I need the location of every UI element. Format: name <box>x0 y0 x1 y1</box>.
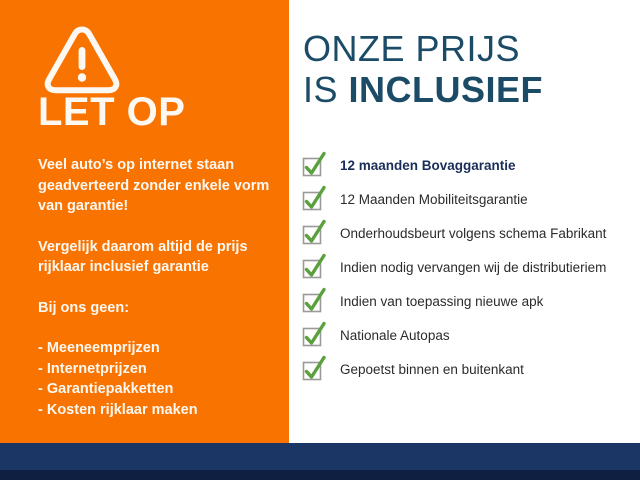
list-item: - Garantiepakketten <box>38 379 278 400</box>
checkbox-checked-icon <box>301 152 327 178</box>
warning-body-text: Veel auto’s op internet staan geadvertee… <box>38 155 278 420</box>
headline-line-2: IS INCLUSIEF <box>303 69 543 110</box>
headline-line-2-prefix: IS <box>303 69 349 110</box>
warning-triangle-icon <box>40 22 124 94</box>
warning-panel: LET OP Veel auto’s op internet staan gea… <box>0 0 289 443</box>
page-title: LET OP <box>38 92 185 132</box>
bottom-bar <box>0 443 640 470</box>
list-item: - Meeneemprijzen <box>38 338 278 359</box>
list-item-label: 12 maanden Bovaggarantie <box>340 158 516 173</box>
checkbox-checked-icon <box>301 356 327 382</box>
warning-paragraph-2: Vergelijk daarom altijd de prijs rijklaa… <box>38 237 278 278</box>
list-item-label: Indien van toepassing nieuwe apk <box>340 294 543 309</box>
checkbox-checked-icon <box>301 322 327 348</box>
headline-line-2-emphasis: INCLUSIEF <box>349 69 544 110</box>
checkbox-checked-icon <box>301 288 327 314</box>
list-item-label: Indien nodig vervangen wij de distributi… <box>340 260 606 275</box>
list-item-label: 12 Maanden Mobiliteitsgarantie <box>340 192 528 207</box>
list-item: Indien van toepassing nieuwe apk <box>297 284 640 318</box>
bottom-bar-shadow <box>0 470 640 480</box>
exclusion-list: - Meeneemprijzen - Internetprijzen - Gar… <box>38 338 278 420</box>
list-item: Onderhoudsbeurt volgens schema Fabrikant <box>297 216 640 250</box>
headline: ONZE PRIJS IS INCLUSIEF <box>303 28 543 110</box>
list-item: 12 Maanden Mobiliteitsgarantie <box>297 182 640 216</box>
inclusive-price-panel: ONZE PRIJS IS INCLUSIEF 12 maanden Bovag… <box>289 0 640 443</box>
checkbox-checked-icon <box>301 254 327 280</box>
list-item: - Internetprijzen <box>38 359 278 380</box>
headline-line-1: ONZE PRIJS <box>303 28 543 69</box>
inclusions-checklist: 12 maanden Bovaggarantie 12 Maanden Mobi… <box>297 148 640 386</box>
list-item-label: Nationale Autopas <box>340 328 450 343</box>
list-item: Nationale Autopas <box>297 318 640 352</box>
checkbox-checked-icon <box>301 220 327 246</box>
list-item-label: Gepoetst binnen en buitenkant <box>340 362 524 377</box>
warning-paragraph-3: Bij ons geen: <box>38 298 278 319</box>
promo-banner: LET OP Veel auto’s op internet staan gea… <box>0 0 640 480</box>
list-item: 12 maanden Bovaggarantie <box>297 148 640 182</box>
list-item: - Kosten rijklaar maken <box>38 400 278 421</box>
list-item-label: Onderhoudsbeurt volgens schema Fabrikant <box>340 226 606 241</box>
list-item: Gepoetst binnen en buitenkant <box>297 352 640 386</box>
warning-paragraph-1: Veel auto’s op internet staan geadvertee… <box>38 155 278 217</box>
list-item: Indien nodig vervangen wij de distributi… <box>297 250 640 284</box>
checkbox-checked-icon <box>301 186 327 212</box>
